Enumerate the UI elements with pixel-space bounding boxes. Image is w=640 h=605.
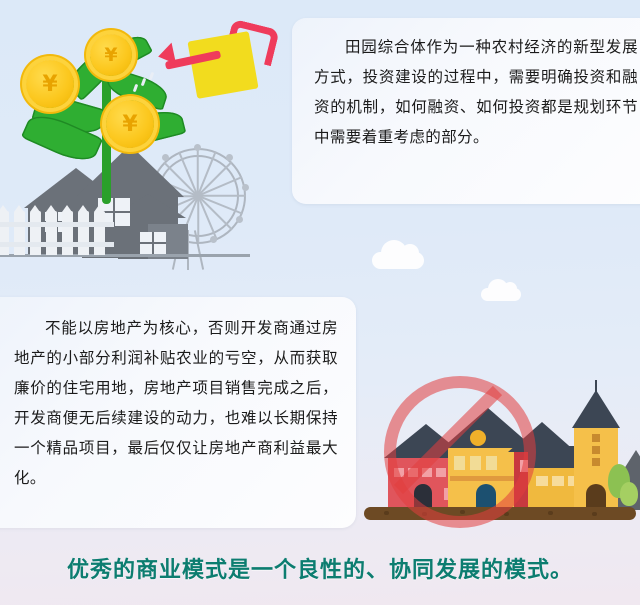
cloud-icon (481, 288, 521, 301)
yen-coin-icon: ¥ (90, 34, 132, 76)
watering-can-icon (160, 20, 280, 100)
money-tree-village-illustration: ¥ ¥ ¥ (0, 0, 300, 285)
prohibition-slash-icon (384, 376, 512, 504)
church-spire (572, 390, 620, 428)
prohibited-real-estate-village-illustration (358, 372, 640, 528)
poster-canvas: ¥ ¥ ¥ (0, 0, 640, 605)
church-window (592, 434, 600, 442)
yen-coin-icon: ¥ (106, 100, 154, 148)
hall-window (536, 476, 548, 486)
cloud-icon (372, 252, 424, 269)
church-finial (595, 380, 597, 392)
yen-coin-icon: ¥ (26, 60, 74, 108)
text-card-top-body: 田园综合体作为一种农村经济的新型发展方式，投资建设的过程中，需要明确投资和融资的… (314, 32, 638, 152)
house-window (140, 232, 166, 254)
hall-window (552, 476, 564, 486)
text-card-bottom: 不能以房地产为核心，否则开发商通过房地产的小部分利润补贴农业的亏空，从而获取廉价… (0, 297, 356, 528)
headline-text: 优秀的商业模式是一个良性的、协同发展的模式。 (0, 552, 640, 584)
text-card-bottom-body: 不能以房地产为核心，否则开发商通过房地产的小部分利润补贴农业的亏空，从而获取廉价… (14, 313, 338, 493)
church-window (592, 446, 600, 454)
church-window (592, 458, 600, 466)
tree-icon (620, 482, 638, 506)
text-card-top: 田园综合体作为一种农村经济的新型发展方式，投资建设的过程中，需要明确投资和融资的… (292, 18, 640, 204)
picket-fence (0, 203, 114, 255)
